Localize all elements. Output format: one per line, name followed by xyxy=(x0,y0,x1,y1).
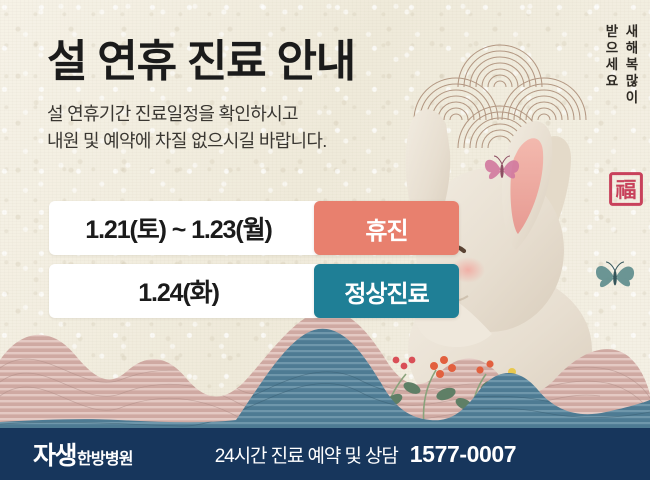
contact-phone-number[interactable]: 1577-0007 xyxy=(410,441,516,468)
greeting-column-left: 받으세요 xyxy=(600,24,618,174)
contact-info: 24시간 진료 예약 및 상담 1577-0007 xyxy=(215,441,516,468)
page-subtitle: 설 연휴기간 진료일정을 확인하시고 내원 및 예약에 차질 없으시길 바랍니다… xyxy=(47,101,427,156)
headline-block: 설 연휴 진료 안내 설 연휴기간 진료일정을 확인하시고 내원 및 예약에 차… xyxy=(47,36,427,156)
brand-name-sub: 한방병원 xyxy=(77,445,133,469)
hospital-logo[interactable]: 자생 한방병원 xyxy=(33,436,133,472)
status-badge-open: 정상진료 xyxy=(314,264,459,318)
schedule-row-closed: 1.21(토) ~ 1.23(월) 휴진 xyxy=(49,201,459,255)
schedule-row-open: 1.24(화) 정상진료 xyxy=(49,264,459,318)
schedule-date-single: 1.24(화) xyxy=(49,264,322,318)
greeting-column-right: 새해복많이 xyxy=(620,24,638,174)
schedule-date-range: 1.21(토) ~ 1.23(월) xyxy=(49,201,322,255)
schedule-list: 1.21(토) ~ 1.23(월) 휴진 1.24(화) 정상진료 xyxy=(49,201,459,318)
contact-label: 24시간 진료 예약 및 상담 xyxy=(215,441,398,468)
new-year-greeting: 새해복많이 받으세요 xyxy=(600,24,638,174)
status-badge-closed: 휴진 xyxy=(314,201,459,255)
footer-bar: 자생 한방병원 24시간 진료 예약 및 상담 1577-0007 xyxy=(0,428,650,480)
brand-name-main: 자생 xyxy=(33,436,76,472)
lunar-new-year-notice-banner: 설 연휴 진료 안내 설 연휴기간 진료일정을 확인하시고 내원 및 예약에 차… xyxy=(0,0,650,480)
page-title: 설 연휴 진료 안내 xyxy=(47,36,427,87)
